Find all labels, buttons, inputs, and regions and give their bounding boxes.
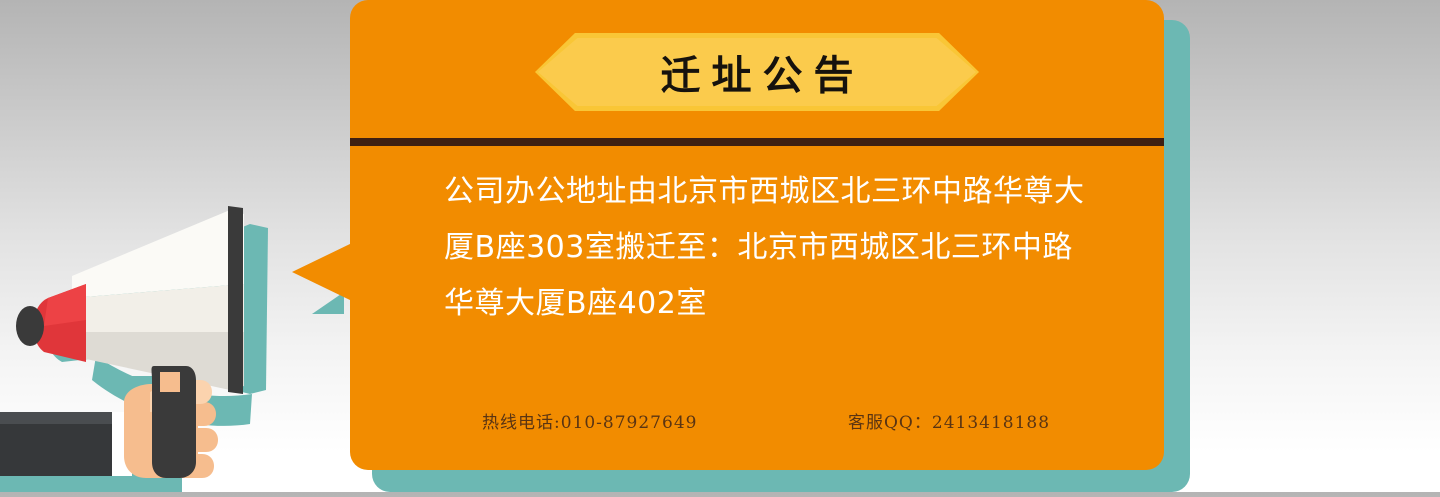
page-title: 迁址公告 [535,33,979,111]
header-divider [350,138,1164,146]
announcement-banner-stage: 迁址公告 公司办公地址由北京市西城区北三环中路华尊大厦B座303室搬迁至：北京市… [0,0,1440,492]
contact-footer: 热线电话:010-87927649 客服QQ：2413418188 [444,408,1092,434]
arm-sleeve [0,412,132,476]
announcement-body: 公司办公地址由北京市西城区北三环中路华尊大厦B座303室搬迁至：北京市西城区北三… [444,164,1092,332]
customer-service-qq-text: 客服QQ：2413418188 [848,408,1050,433]
title-banner: 迁址公告 [535,33,979,111]
speech-bubble-tail [292,243,352,301]
megaphone-end-cap [16,306,44,346]
megaphone-rim [228,206,243,394]
megaphone-illustration [0,180,320,492]
hotline-text: 热线电话:010-87927649 [482,408,697,433]
